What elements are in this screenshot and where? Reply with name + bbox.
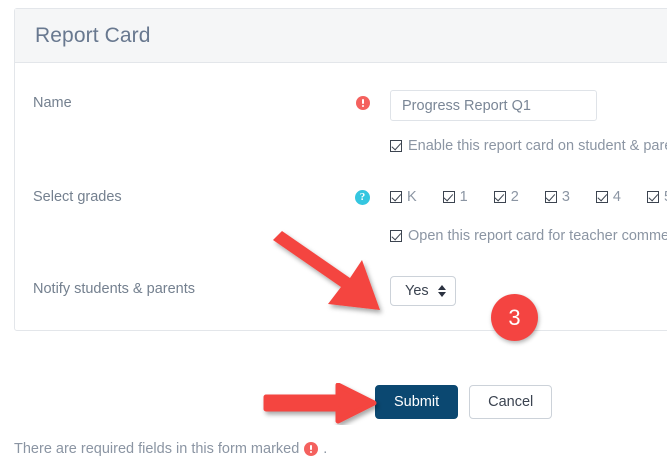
form-row-enable: Enable this report card on student & par… [15, 137, 667, 161]
grade-checkbox-4[interactable]: 4 [596, 189, 621, 205]
notify-select[interactable]: Yes [390, 276, 456, 306]
grades-help-marker[interactable]: ? [335, 183, 390, 205]
checkbox-enable-report-card[interactable]: Enable this report card on student & par… [390, 138, 667, 154]
report-card-screen: Report Card Name Enable [0, 0, 667, 474]
grade-label: 4 [613, 189, 621, 205]
open-spacer [33, 227, 335, 233]
required-icon [304, 442, 318, 456]
help-icon[interactable]: ? [355, 190, 370, 205]
checkbox-icon[interactable] [545, 191, 557, 203]
notify-help-marker[interactable]: ? [335, 275, 390, 297]
form-row-name: Name [15, 89, 667, 121]
checkbox-icon[interactable] [596, 191, 608, 203]
form-action-buttons: Submit Cancel [375, 385, 552, 419]
open-marker-spacer [335, 227, 390, 234]
name-input[interactable] [390, 90, 597, 121]
enable-control: Enable this report card on student & par… [390, 137, 667, 154]
card-header: Report Card [15, 9, 667, 63]
label-select-grades: Select grades [33, 183, 335, 205]
label-notify: Notify students & parents [33, 275, 335, 297]
form-row-grades: Select grades ? K 1 [15, 183, 667, 207]
label-name: Name [33, 89, 335, 111]
checkbox-icon[interactable] [390, 140, 402, 152]
page-title: Report Card [35, 24, 150, 48]
grades-control: K 1 2 3 [390, 183, 667, 205]
card-body: Name Enable this report card on student … [15, 63, 667, 330]
grade-label: K [407, 189, 417, 205]
cancel-button[interactable]: Cancel [469, 385, 552, 419]
checkbox-open-teacher-comments[interactable]: Open this report card for teacher comme [390, 228, 667, 244]
notify-select-wrap: Yes [390, 276, 456, 306]
grade-label: 1 [460, 189, 468, 205]
checkbox-icon[interactable] [443, 191, 455, 203]
name-required-marker [335, 89, 390, 110]
help-icon[interactable]: ? [355, 282, 370, 297]
report-card-panel: Report Card Name Enable [14, 8, 667, 331]
required-note-period: . [323, 441, 327, 457]
annotation-step-badge: 3 [491, 294, 538, 341]
checkbox-icon[interactable] [494, 191, 506, 203]
required-icon [356, 96, 370, 110]
name-control [390, 89, 667, 121]
open-control: Open this report card for teacher comme [390, 227, 667, 244]
chevron-updown-icon [438, 284, 447, 298]
grade-checkbox-5[interactable]: 5 [647, 189, 667, 205]
grade-label: 3 [562, 189, 570, 205]
grade-checkbox-2[interactable]: 2 [494, 189, 519, 205]
checkbox-icon[interactable] [390, 230, 402, 242]
grade-checkbox-1[interactable]: 1 [443, 189, 468, 205]
grade-label: 2 [511, 189, 519, 205]
checkbox-icon[interactable] [390, 191, 402, 203]
form-row-open-comments: Open this report card for teacher comme [15, 227, 667, 251]
enable-marker-spacer [335, 137, 390, 144]
grade-checkbox-3[interactable]: 3 [545, 189, 570, 205]
grade-checkbox-group: K 1 2 3 [390, 184, 667, 205]
checkbox-icon[interactable] [647, 191, 659, 203]
enable-spacer [33, 137, 335, 143]
grade-checkbox-k[interactable]: K [390, 189, 417, 205]
checkbox-enable-label: Enable this report card on student & par… [408, 138, 667, 154]
submit-button[interactable]: Submit [375, 385, 458, 419]
notify-select-value: Yes [405, 283, 429, 299]
annotation-arrow-horizontal [258, 383, 383, 425]
form-row-notify: Notify students & parents ? Yes [15, 275, 667, 306]
required-note-text: There are required fields in this form m… [14, 441, 299, 457]
checkbox-open-label: Open this report card for teacher comme [408, 228, 667, 244]
required-fields-note: There are required fields in this form m… [14, 441, 327, 457]
